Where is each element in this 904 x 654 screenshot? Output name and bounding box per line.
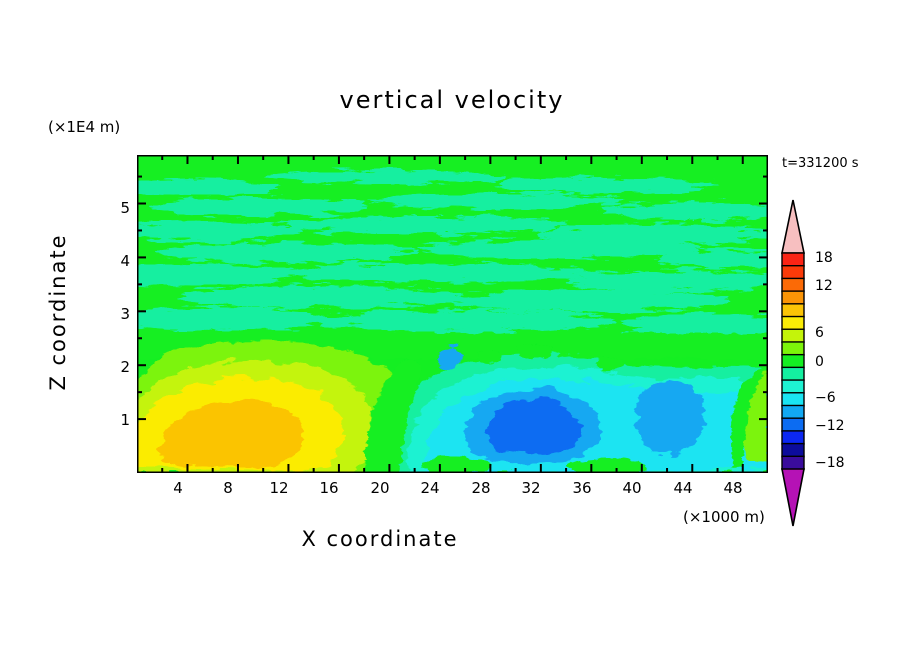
- x-axis-title: X coordinate: [0, 527, 760, 551]
- x-tick-label: 8: [208, 479, 248, 497]
- x-tick-label: 48: [713, 479, 753, 497]
- y-axis-unit-label: (×1E4 m): [48, 118, 120, 136]
- colorbar-tick-label: −12: [815, 418, 845, 434]
- y-tick-label: 2: [104, 358, 130, 376]
- contour-plot-field: [137, 155, 768, 473]
- colorbar-under-arrow: [782, 469, 804, 526]
- x-tick-label: 32: [511, 479, 551, 497]
- x-tick-label: 24: [410, 479, 450, 497]
- x-tick-label: 44: [663, 479, 703, 497]
- colorbar-bands: [782, 253, 804, 469]
- colorbar-tick-label: −18: [815, 455, 845, 471]
- colorbar-tick-label: 12: [815, 278, 833, 294]
- colorbar: [775, 198, 819, 528]
- x-axis-unit-label: (×1000 m): [683, 508, 765, 526]
- colorbar-tick-label: 18: [815, 250, 833, 266]
- x-tick-label: 40: [612, 479, 652, 497]
- x-tick-label: 4: [158, 479, 198, 497]
- x-tick-label: 16: [309, 479, 349, 497]
- y-tick-label: 5: [104, 199, 130, 217]
- colorbar-over-arrow: [782, 200, 804, 253]
- page-title: vertical velocity: [0, 86, 904, 114]
- y-tick-label: 4: [104, 252, 130, 270]
- colorbar-tick-label: −6: [815, 390, 836, 406]
- x-tick-label: 20: [360, 479, 400, 497]
- x-tick-label: 12: [259, 479, 299, 497]
- timestamp-annotation: t=331200 s: [782, 156, 859, 171]
- x-tick-label: 28: [461, 479, 501, 497]
- x-tick-label: 36: [562, 479, 602, 497]
- colorbar-tick-label: 0: [815, 354, 824, 370]
- y-axis-title: Z coordinate: [46, 202, 70, 422]
- y-tick-label: 3: [104, 305, 130, 323]
- y-tick-label: 1: [104, 411, 130, 429]
- colorbar-tick-label: 6: [815, 325, 824, 341]
